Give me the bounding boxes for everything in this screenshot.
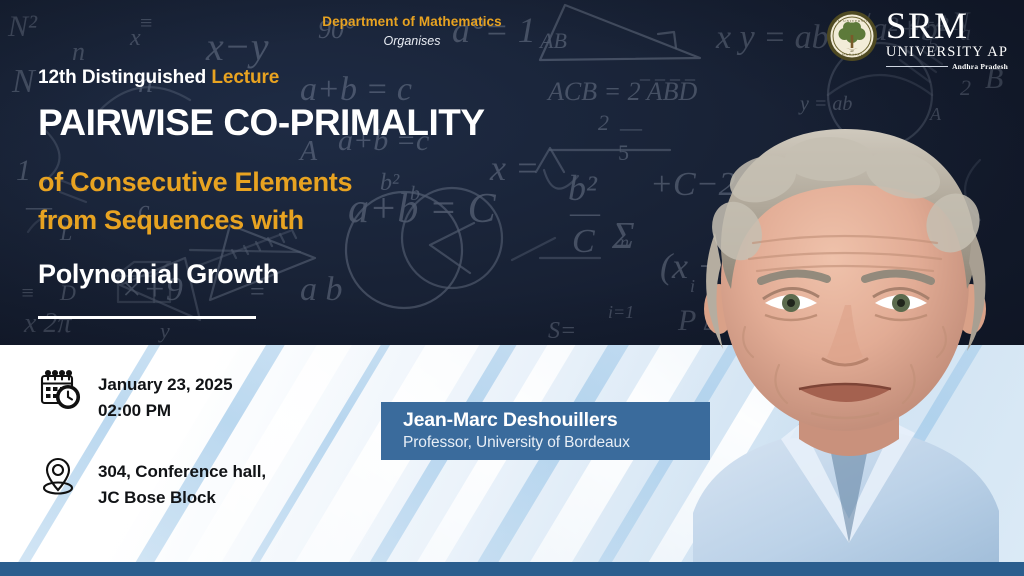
location-pin-icon bbox=[38, 455, 82, 503]
title-line-2: of Consecutive Elements bbox=[38, 163, 598, 201]
svg-text:SRM UNIVERSITY: SRM UNIVERSITY bbox=[832, 19, 872, 23]
lecture-poster: N² N n x n ≡ x−y 90° a+b = c a°= 1 AB AC… bbox=[0, 0, 1024, 576]
event-details: January 23, 2025 02:00 PM 304, Conferenc… bbox=[38, 368, 338, 541]
event-date: January 23, 2025 bbox=[98, 372, 233, 398]
title-line-3: from Sequences with bbox=[38, 201, 598, 239]
page-title: PAIRWISE CO-PRIMALITY bbox=[38, 104, 598, 143]
event-time: 02:00 PM bbox=[98, 398, 233, 424]
srm-tree-seal-icon: SRM UNIVERSITY AMARAVATI AP bbox=[826, 10, 878, 62]
svg-text:AP: AP bbox=[850, 49, 854, 53]
svg-text:AMARAVATI: AMARAVATI bbox=[838, 53, 865, 57]
logo-state-text: Andhra Pradesh bbox=[952, 63, 1008, 71]
logo-srm-text: SRM bbox=[886, 10, 1008, 44]
bottom-accent-bar bbox=[0, 562, 1024, 576]
title-underline bbox=[38, 316, 256, 319]
logo-divider bbox=[886, 66, 948, 67]
speaker-photo bbox=[653, 113, 1024, 576]
kicker-highlight: Lecture bbox=[211, 67, 279, 88]
logo-university-text: UNIVERSITY AP bbox=[886, 45, 1008, 60]
venue-line-1: 304, Conference hall, bbox=[98, 459, 266, 485]
detail-row-venue: 304, Conference hall, JC Bose Block bbox=[38, 455, 338, 512]
datetime-text: January 23, 2025 02:00 PM bbox=[98, 368, 233, 425]
calendar-clock-icon bbox=[38, 368, 82, 416]
title-block: 12th Distinguished Lecture PAIRWISE CO-P… bbox=[38, 66, 598, 319]
venue-text: 304, Conference hall, JC Bose Block bbox=[98, 455, 266, 512]
lecture-kicker: 12th Distinguished Lecture bbox=[38, 66, 598, 90]
kicker-prefix: 12th Distinguished bbox=[38, 67, 211, 88]
detail-row-datetime: January 23, 2025 02:00 PM bbox=[38, 368, 338, 425]
venue-line-2: JC Bose Block bbox=[98, 485, 266, 511]
title-line-4: Polynomial Growth bbox=[38, 255, 598, 293]
srm-university-logo: SRM UNIVERSITY AMARAVATI AP SRM UNIVERSI… bbox=[826, 8, 1008, 66]
